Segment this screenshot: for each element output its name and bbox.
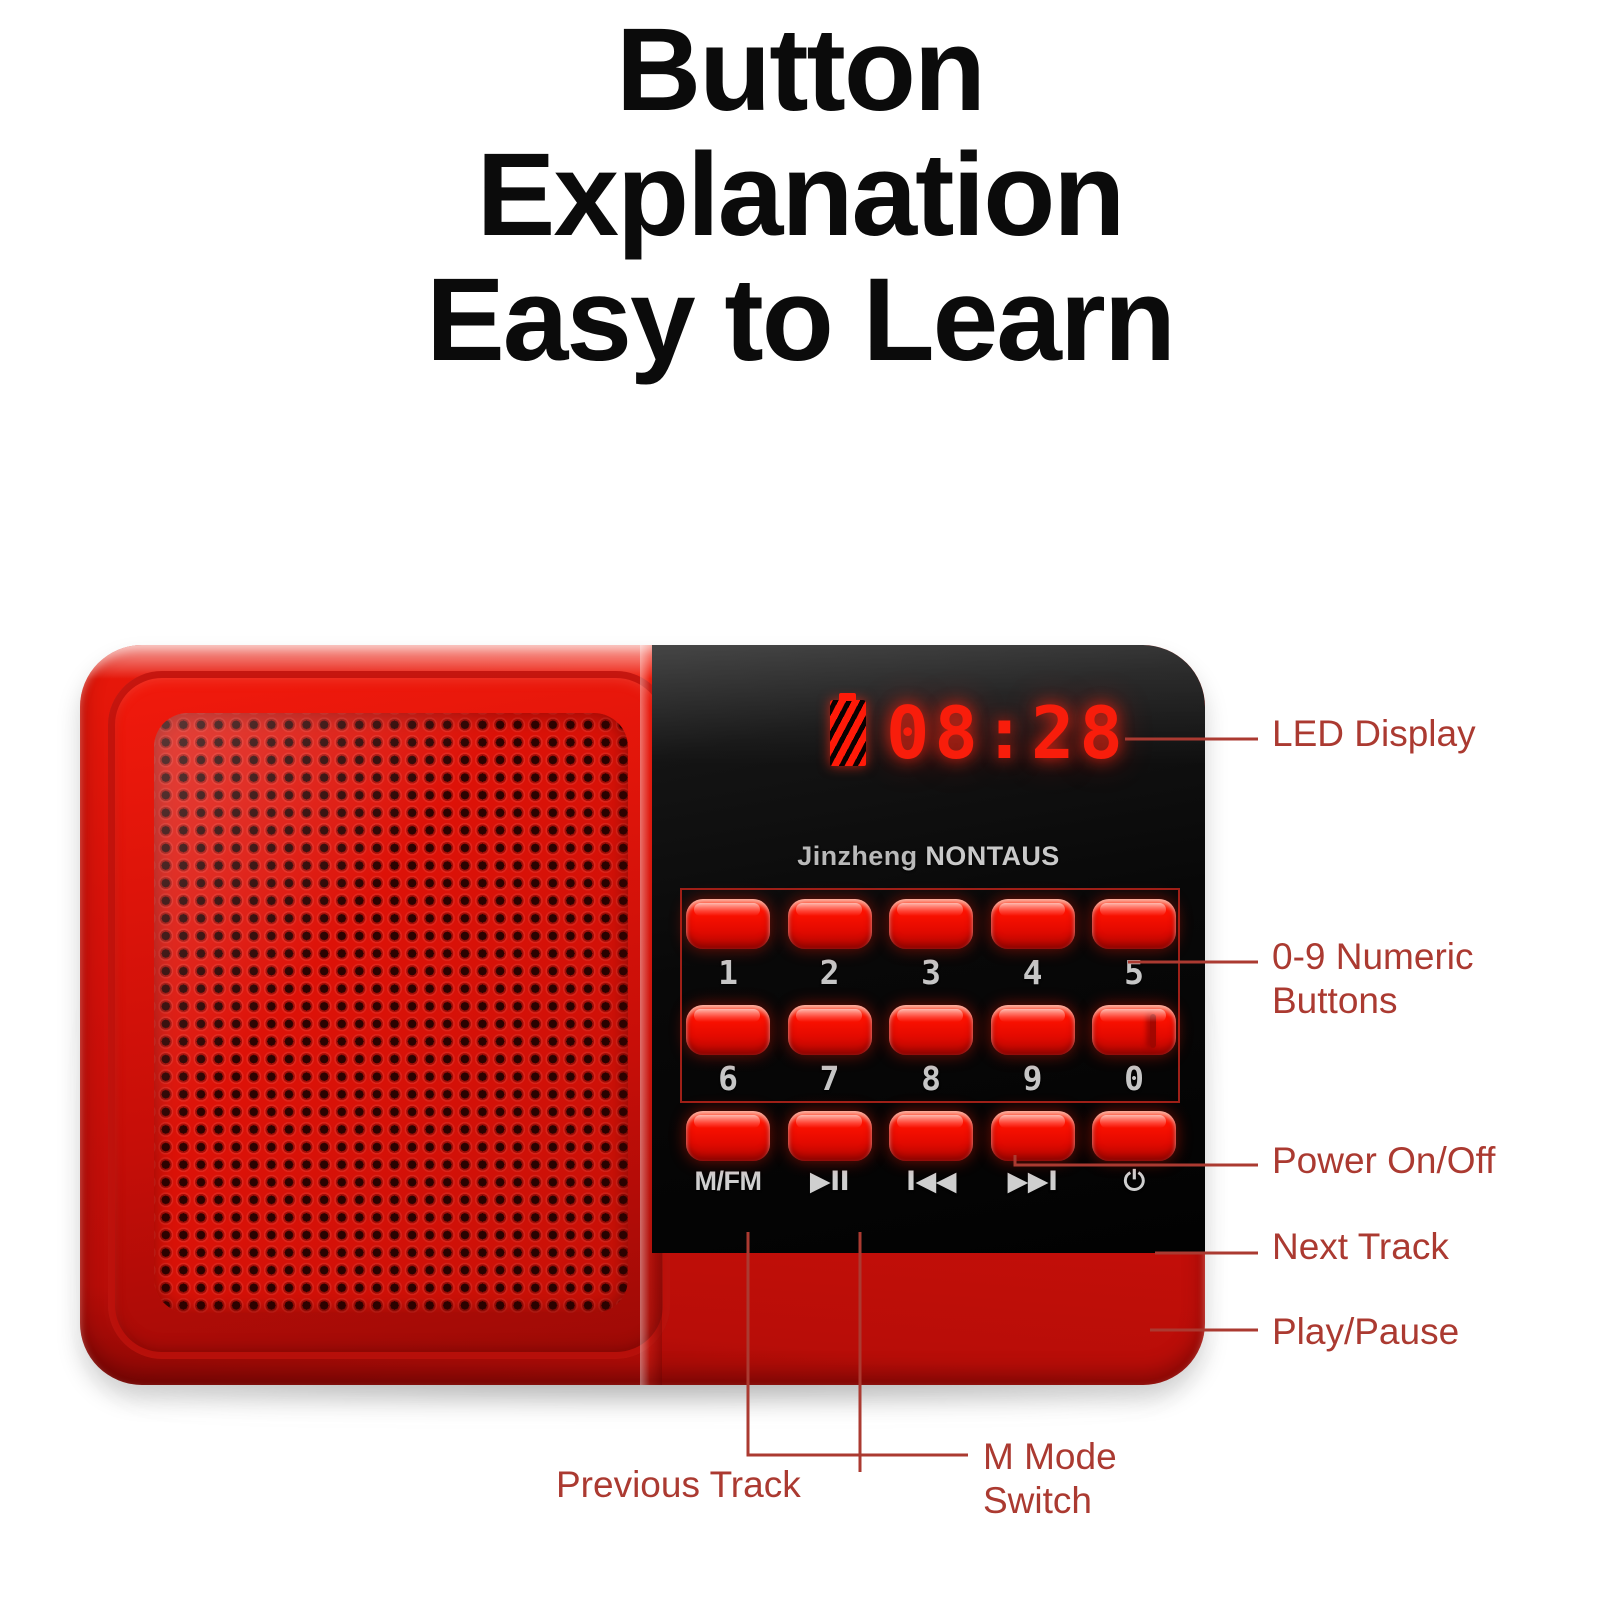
keycap-6[interactable] [686,1005,770,1055]
keycap-mode-switch[interactable] [686,1111,770,1161]
keycap-9[interactable] [991,1005,1075,1055]
keycap-2[interactable] [788,899,872,949]
keycap-3[interactable] [889,899,973,949]
key-label-7: 7 [788,1062,872,1095]
key-play-pause[interactable]: ▶II [788,1111,872,1195]
callout-numeric-buttons: 0-9 Numeric Buttons [1272,935,1474,1022]
key-power[interactable]: ⏻ [1092,1111,1176,1195]
keycap-previous-track[interactable] [889,1111,973,1161]
callout-previous-track: Previous Track [556,1463,801,1507]
key-label-mode-switch: M/FM [686,1168,770,1195]
brand-name-bold: NONTAUS [925,841,1059,871]
keycap-7[interactable] [788,1005,872,1055]
key-mode-switch[interactable]: M/FM [686,1111,770,1195]
key-next-track[interactable]: ▶▶I [991,1111,1075,1195]
key-label-4: 4 [991,956,1075,989]
next-track-icon: ▶▶I [991,1168,1075,1195]
key-label-9: 9 [991,1062,1075,1095]
radio-device: 08:28 Jinzheng NONTAUS 1 2 [80,645,1205,1385]
key-9[interactable]: 9 [991,1005,1075,1095]
page-title: Button Explanation Easy to Learn [0,8,1600,383]
key-0[interactable]: 0 [1092,1005,1176,1095]
key-label-8: 8 [889,1062,973,1095]
play-pause-icon: ▶II [788,1168,872,1195]
keycap-power[interactable] [1092,1111,1176,1161]
keycap-5[interactable] [1092,899,1176,949]
numeric-row-top: 1 2 3 4 5 [686,899,1176,989]
key-label-0: 0 [1092,1062,1176,1095]
callout-power: Power On/Off [1272,1139,1495,1183]
callout-m-mode-switch: M Mode Switch [983,1435,1117,1522]
keycap-play-pause[interactable] [788,1111,872,1161]
led-time-value: 08:28 [886,697,1128,769]
speaker-grille [154,713,628,1313]
callout-led-display: LED Display [1272,712,1476,756]
power-icon: ⏻ [1092,1168,1176,1195]
keycap-4[interactable] [991,899,1075,949]
brand-name-light: Jinzheng [797,841,917,871]
speaker-recess [108,671,670,1359]
key-label-2: 2 [788,956,872,989]
key-label-5: 5 [1092,956,1176,989]
keycap-8[interactable] [889,1005,973,1055]
title-line-1: Button [150,8,1450,133]
key-4[interactable]: 4 [991,899,1075,989]
key-8[interactable]: 8 [889,1005,973,1095]
battery-icon [830,700,866,766]
grille-sheen [154,713,628,1313]
key-label-1: 1 [686,956,770,989]
key-6[interactable]: 6 [686,1005,770,1095]
keycap-1[interactable] [686,899,770,949]
key-7[interactable]: 7 [788,1005,872,1095]
callout-next-track: Next Track [1272,1225,1449,1269]
key-5[interactable]: 5 [1092,899,1176,989]
key-label-6: 6 [686,1062,770,1095]
control-panel: 08:28 Jinzheng NONTAUS 1 2 [652,645,1205,1253]
title-line-2: Explanation [150,133,1450,258]
previous-track-icon: I◀◀ [889,1168,973,1195]
key-2[interactable]: 2 [788,899,872,989]
key-1[interactable]: 1 [686,899,770,989]
key-label-3: 3 [889,956,973,989]
key-previous-track[interactable]: I◀◀ [889,1111,973,1195]
title-line-3: Easy to Learn [150,258,1450,383]
brand-text: Jinzheng NONTAUS [652,841,1205,872]
keycap-next-track[interactable] [991,1111,1075,1161]
callout-play-pause: Play/Pause [1272,1310,1459,1354]
key-3[interactable]: 3 [889,899,973,989]
function-row: M/FM ▶II I◀◀ ▶▶I ⏻ [686,1111,1176,1195]
device-body: 08:28 Jinzheng NONTAUS 1 2 [80,645,1205,1385]
keycap-0[interactable] [1092,1005,1176,1055]
numeric-row-bottom: 6 7 8 9 0 [686,1005,1176,1095]
led-display: 08:28 [830,697,1128,769]
